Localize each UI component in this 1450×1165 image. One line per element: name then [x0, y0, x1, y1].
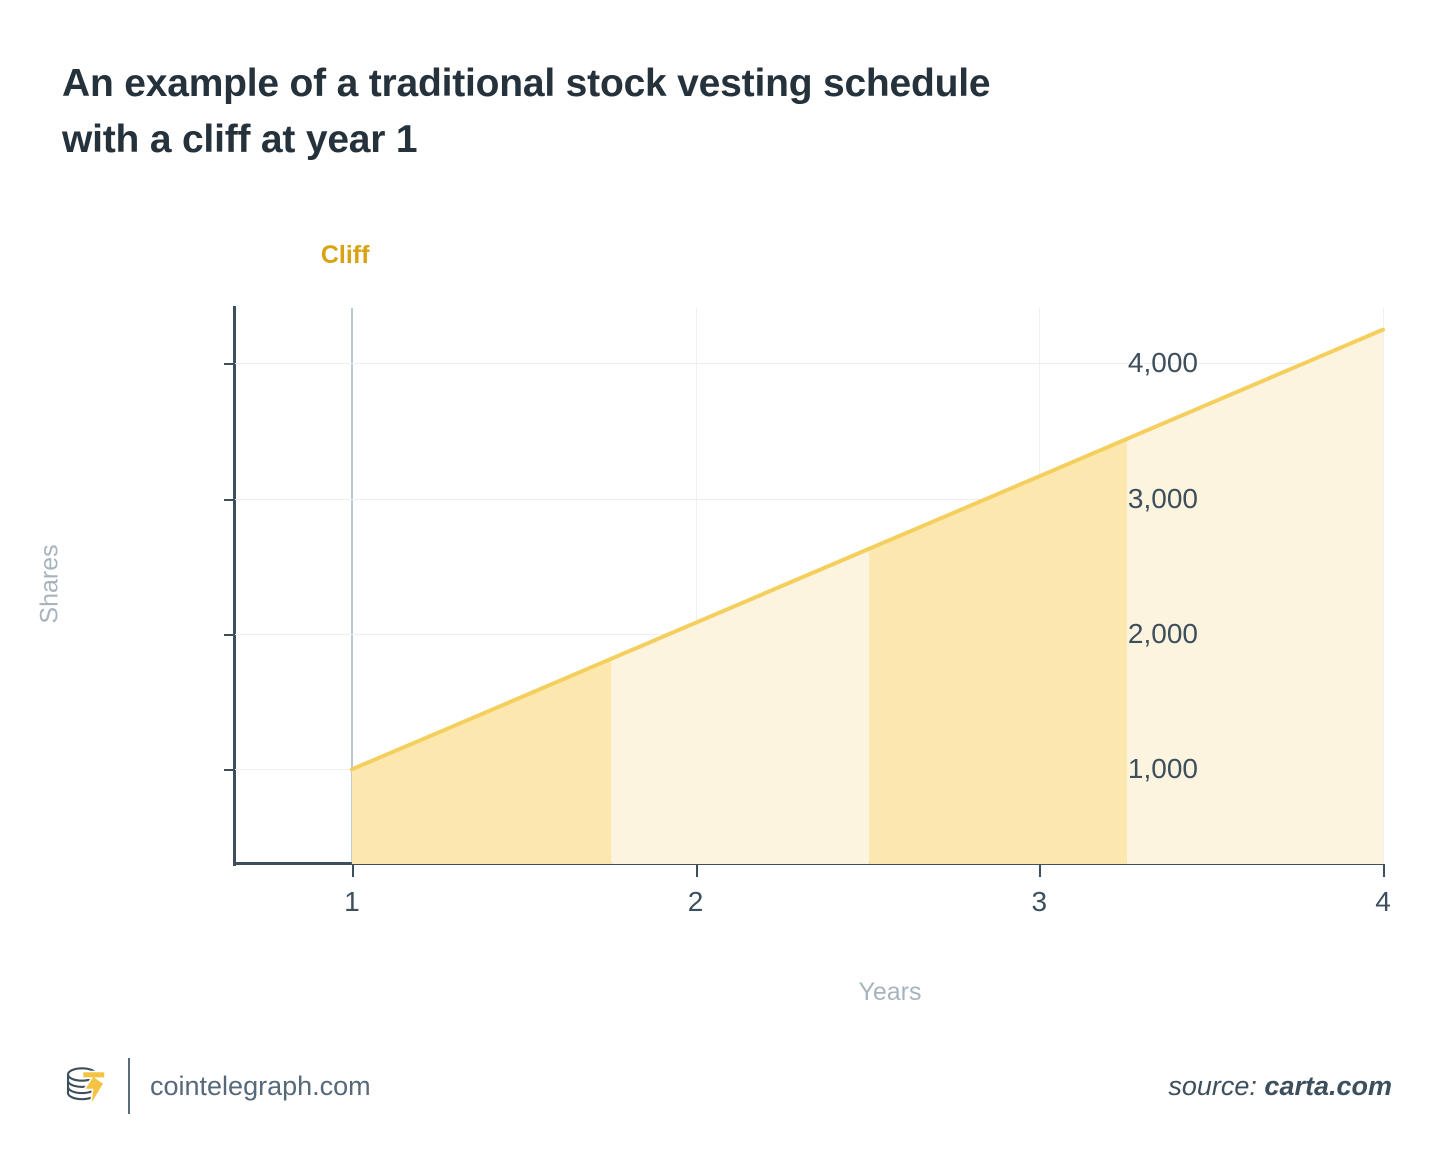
vesting-area-chart — [235, 308, 1383, 864]
footer-source-prefix: source: — [1168, 1071, 1264, 1101]
y-tick-label: 2,000 — [1128, 618, 1198, 650]
y-tick-label: 4,000 — [1128, 347, 1198, 379]
chart-container: Shares Years Cliff 1,0002,0003,0004,000 … — [0, 0, 1450, 1040]
x-tick-mark — [1039, 864, 1041, 877]
x-tick-mark — [1383, 864, 1385, 877]
y-tick-mark — [224, 363, 235, 365]
cliff-annotation-label: Cliff — [321, 241, 370, 270]
y-tick-label: 3,000 — [1128, 483, 1198, 515]
area-band-dark — [352, 659, 612, 864]
x-axis-title: Years — [858, 978, 921, 1007]
footer-source-name: carta.com — [1264, 1071, 1392, 1101]
footer-source-label: source: carta.com — [1168, 1071, 1392, 1102]
x-tick-label: 1 — [344, 886, 360, 918]
gridline-vertical — [1383, 308, 1384, 864]
area-band-light — [611, 549, 869, 864]
y-tick-label: 1,000 — [1128, 753, 1198, 785]
footer: cointelegraph.com source: carta.com — [0, 1040, 1450, 1165]
y-axis-title: Shares — [36, 544, 65, 623]
area-band-dark — [869, 439, 1127, 864]
cointelegraph-logo-icon — [60, 1060, 112, 1112]
x-tick-mark — [696, 864, 698, 877]
footer-site-label: cointelegraph.com — [150, 1071, 371, 1102]
y-tick-mark — [224, 499, 235, 501]
x-tick-label: 4 — [1375, 886, 1391, 918]
x-tick-label: 2 — [688, 886, 704, 918]
x-tick-mark — [352, 864, 354, 877]
x-tick-label: 3 — [1031, 886, 1047, 918]
plot-area — [235, 308, 1383, 864]
y-tick-mark — [224, 634, 235, 636]
footer-divider — [128, 1058, 130, 1114]
y-tick-mark — [224, 769, 235, 771]
